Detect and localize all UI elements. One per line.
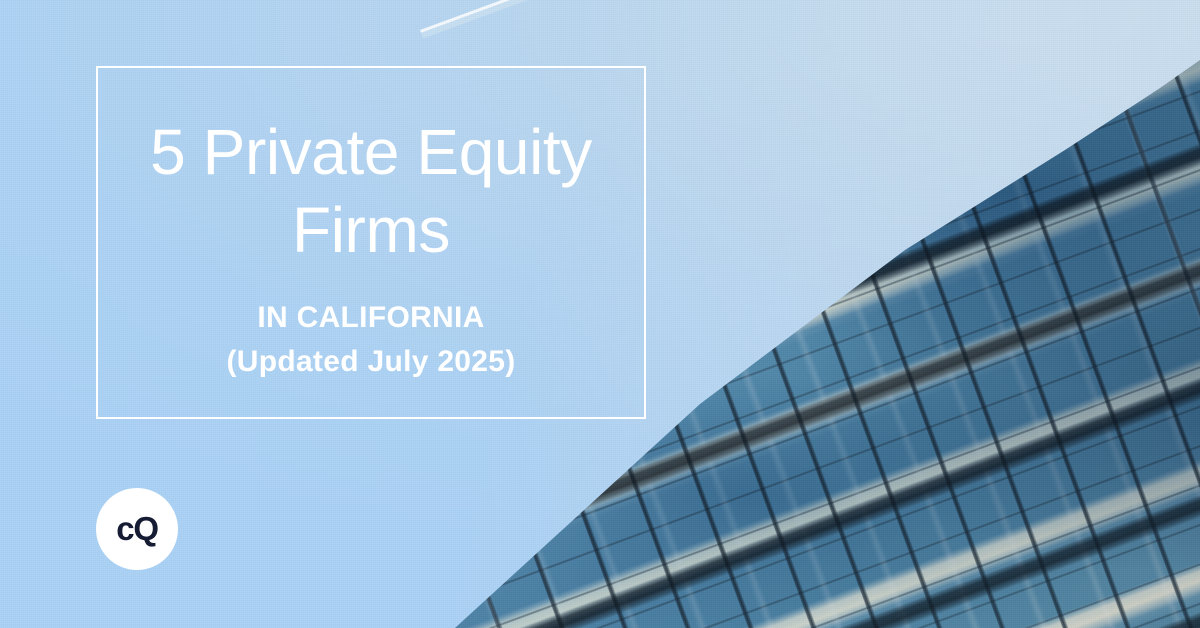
logo-badge[interactable]: cQ: [96, 488, 178, 570]
page-title: 5 Private Equity Firms: [96, 113, 646, 269]
banner-canvas: 5 Private Equity Firms IN CALIFORNIA (Up…: [0, 0, 1200, 628]
page-subtitle: IN CALIFORNIA (Updated July 2025): [96, 296, 646, 384]
subtitle-location: IN CALIFORNIA: [257, 301, 484, 334]
logo-wordmark: cQ: [116, 512, 158, 545]
subtitle-updated-date: (Updated July 2025): [96, 340, 646, 384]
